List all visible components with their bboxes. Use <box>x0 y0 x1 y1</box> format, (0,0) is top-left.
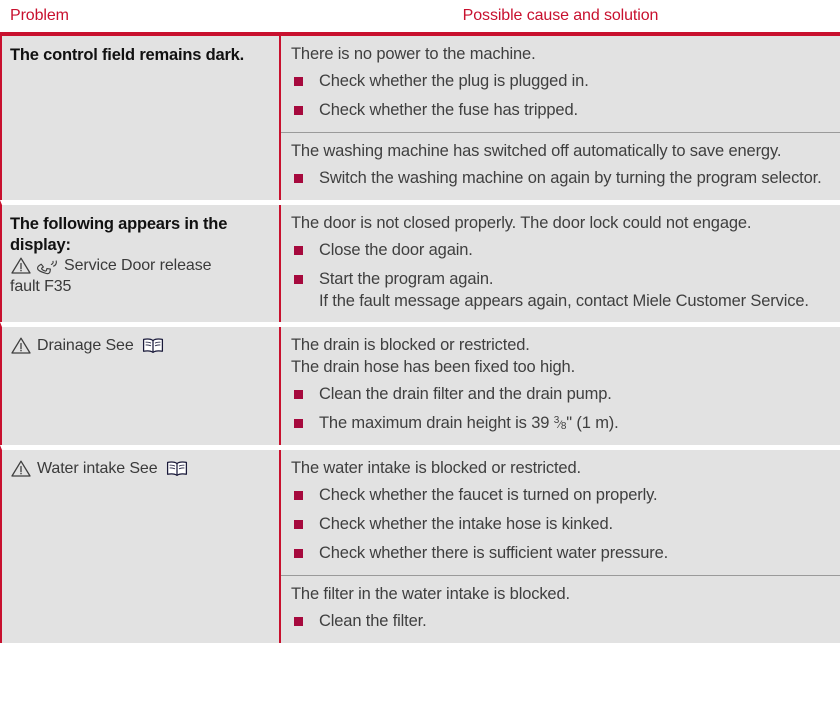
bullet-square-icon <box>294 617 303 626</box>
list-item-label: Switch the washing machine on again by t… <box>319 169 822 187</box>
cause-text: There is no power to the machine. <box>291 44 828 66</box>
cause-text: The door is not closed properly. The doo… <box>291 213 828 235</box>
display-message-line: Drainage See <box>10 336 271 357</box>
cause-cell: There is no power to the machine. Check … <box>281 36 840 200</box>
display-message-line: Service Door release <box>10 256 271 277</box>
list-item: Check whether the intake hose is kinked. <box>291 514 828 536</box>
problem-title: The control field remains dark. <box>10 45 271 66</box>
list-item: Close the door again. <box>291 240 828 262</box>
list-item: Check whether the faucet is turned on pr… <box>291 485 828 507</box>
book-icon <box>141 336 165 355</box>
cause-text: The drain is blocked or restricted. <box>291 335 828 357</box>
bullet-square-icon <box>294 520 303 529</box>
solution-list: Close the door again. Start the program … <box>291 240 828 313</box>
list-item-label: Clean the filter. <box>319 612 427 630</box>
list-item-label-suffix: " (1 m). <box>566 414 618 432</box>
list-item: Switch the washing machine on again by t… <box>291 168 828 190</box>
cause-subrow: The washing machine has switched off aut… <box>281 132 840 200</box>
cause-subrow: There is no power to the machine. Check … <box>281 36 840 132</box>
list-item-label: Check whether the fuse has tripped. <box>319 101 578 119</box>
troubleshooting-table-page: Problem Possible cause and solution The … <box>0 0 840 710</box>
warning-triangle-icon <box>10 336 32 355</box>
list-item: The maximum drain height is 39 3⁄8" (1 m… <box>291 413 828 435</box>
fraction-numerator: 3 <box>554 415 559 426</box>
cause-subrow: The water intake is blocked or restricte… <box>281 450 840 575</box>
cause-text: The filter in the water intake is blocke… <box>291 584 828 606</box>
bullet-square-icon <box>294 77 303 86</box>
table-body: The control field remains dark. There is… <box>0 36 840 643</box>
fraction-value: 3⁄8 <box>554 419 567 431</box>
list-item-label: Clean the drain filter and the drain pum… <box>319 385 612 403</box>
bullet-square-icon <box>294 549 303 558</box>
cause-cell: The drain is blocked or restricted. The … <box>281 327 840 445</box>
list-item-label: Start the program again. <box>319 270 493 288</box>
cause-text: The water intake is blocked or restricte… <box>291 458 828 480</box>
cause-cell: The water intake is blocked or restricte… <box>281 450 840 643</box>
bullet-square-icon <box>294 390 303 399</box>
list-item: Clean the drain filter and the drain pum… <box>291 384 828 406</box>
list-item: Start the program again. If the fault me… <box>291 269 828 313</box>
display-message-line-2: fault F35 <box>10 277 271 298</box>
table-row: Drainage See The dra <box>0 322 840 445</box>
list-item-label: Close the door again. <box>319 241 473 259</box>
table-row: The following appears in the display: <box>0 200 840 323</box>
column-header-cause: Possible cause and solution <box>281 0 840 32</box>
bullet-square-icon <box>294 174 303 183</box>
display-message-text: Water intake See <box>37 459 158 480</box>
list-item: Check whether the plug is plugged in. <box>291 71 828 93</box>
cause-cell: The door is not closed properly. The doo… <box>281 205 840 323</box>
table-row: Water intake See Th <box>0 445 840 643</box>
book-icon <box>165 459 189 478</box>
solution-list: Clean the filter. <box>291 611 828 633</box>
solution-list: Check whether the faucet is turned on pr… <box>291 485 828 565</box>
problem-cell: Water intake See <box>2 450 281 643</box>
list-item-label: Check whether the faucet is turned on pr… <box>319 486 657 504</box>
table-row: The control field remains dark. There is… <box>0 36 840 200</box>
problem-cell: The following appears in the display: <box>2 205 281 323</box>
warning-triangle-icon <box>10 256 32 275</box>
cause-subrow: The filter in the water intake is blocke… <box>281 575 840 643</box>
cause-text-2: The drain hose has been fixed too high. <box>291 357 828 379</box>
warning-triangle-icon <box>10 459 32 478</box>
solution-list: Check whether the plug is plugged in. Ch… <box>291 71 828 122</box>
cause-subrow: The drain is blocked or restricted. The … <box>281 327 840 445</box>
bullet-square-icon <box>294 491 303 500</box>
list-item: Clean the filter. <box>291 611 828 633</box>
problem-cell: The control field remains dark. <box>2 36 281 200</box>
cause-subrow: The door is not closed properly. The doo… <box>281 205 840 323</box>
column-header-problem: Problem <box>0 0 281 32</box>
list-item-sublabel: If the fault message appears again, cont… <box>319 291 828 313</box>
display-message-line: Water intake See <box>10 459 271 480</box>
bullet-square-icon <box>294 106 303 115</box>
display-message-text: Drainage See <box>37 336 134 357</box>
solution-list: Switch the washing machine on again by t… <box>291 168 828 190</box>
fraction-denominator: 8 <box>561 421 566 432</box>
problem-cell: Drainage See <box>2 327 281 445</box>
bullet-square-icon <box>294 419 303 428</box>
bullet-square-icon <box>294 275 303 284</box>
problem-title: The following appears in the display: <box>10 214 271 256</box>
list-item-label: Check whether there is sufficient water … <box>319 544 668 562</box>
bullet-square-icon <box>294 246 303 255</box>
service-phone-icon <box>35 256 59 275</box>
list-item: Check whether the fuse has tripped. <box>291 100 828 122</box>
list-item: Check whether there is sufficient water … <box>291 543 828 565</box>
list-item-label-prefix: The maximum drain height is 39 <box>319 414 554 432</box>
display-message-text: Service Door release <box>64 256 211 277</box>
list-item-label: Check whether the plug is plugged in. <box>319 72 589 90</box>
list-item-label: Check whether the intake hose is kinked. <box>319 515 613 533</box>
table-header-row: Problem Possible cause and solution <box>0 0 840 32</box>
cause-text: The washing machine has switched off aut… <box>291 141 828 163</box>
solution-list: Clean the drain filter and the drain pum… <box>291 384 828 435</box>
